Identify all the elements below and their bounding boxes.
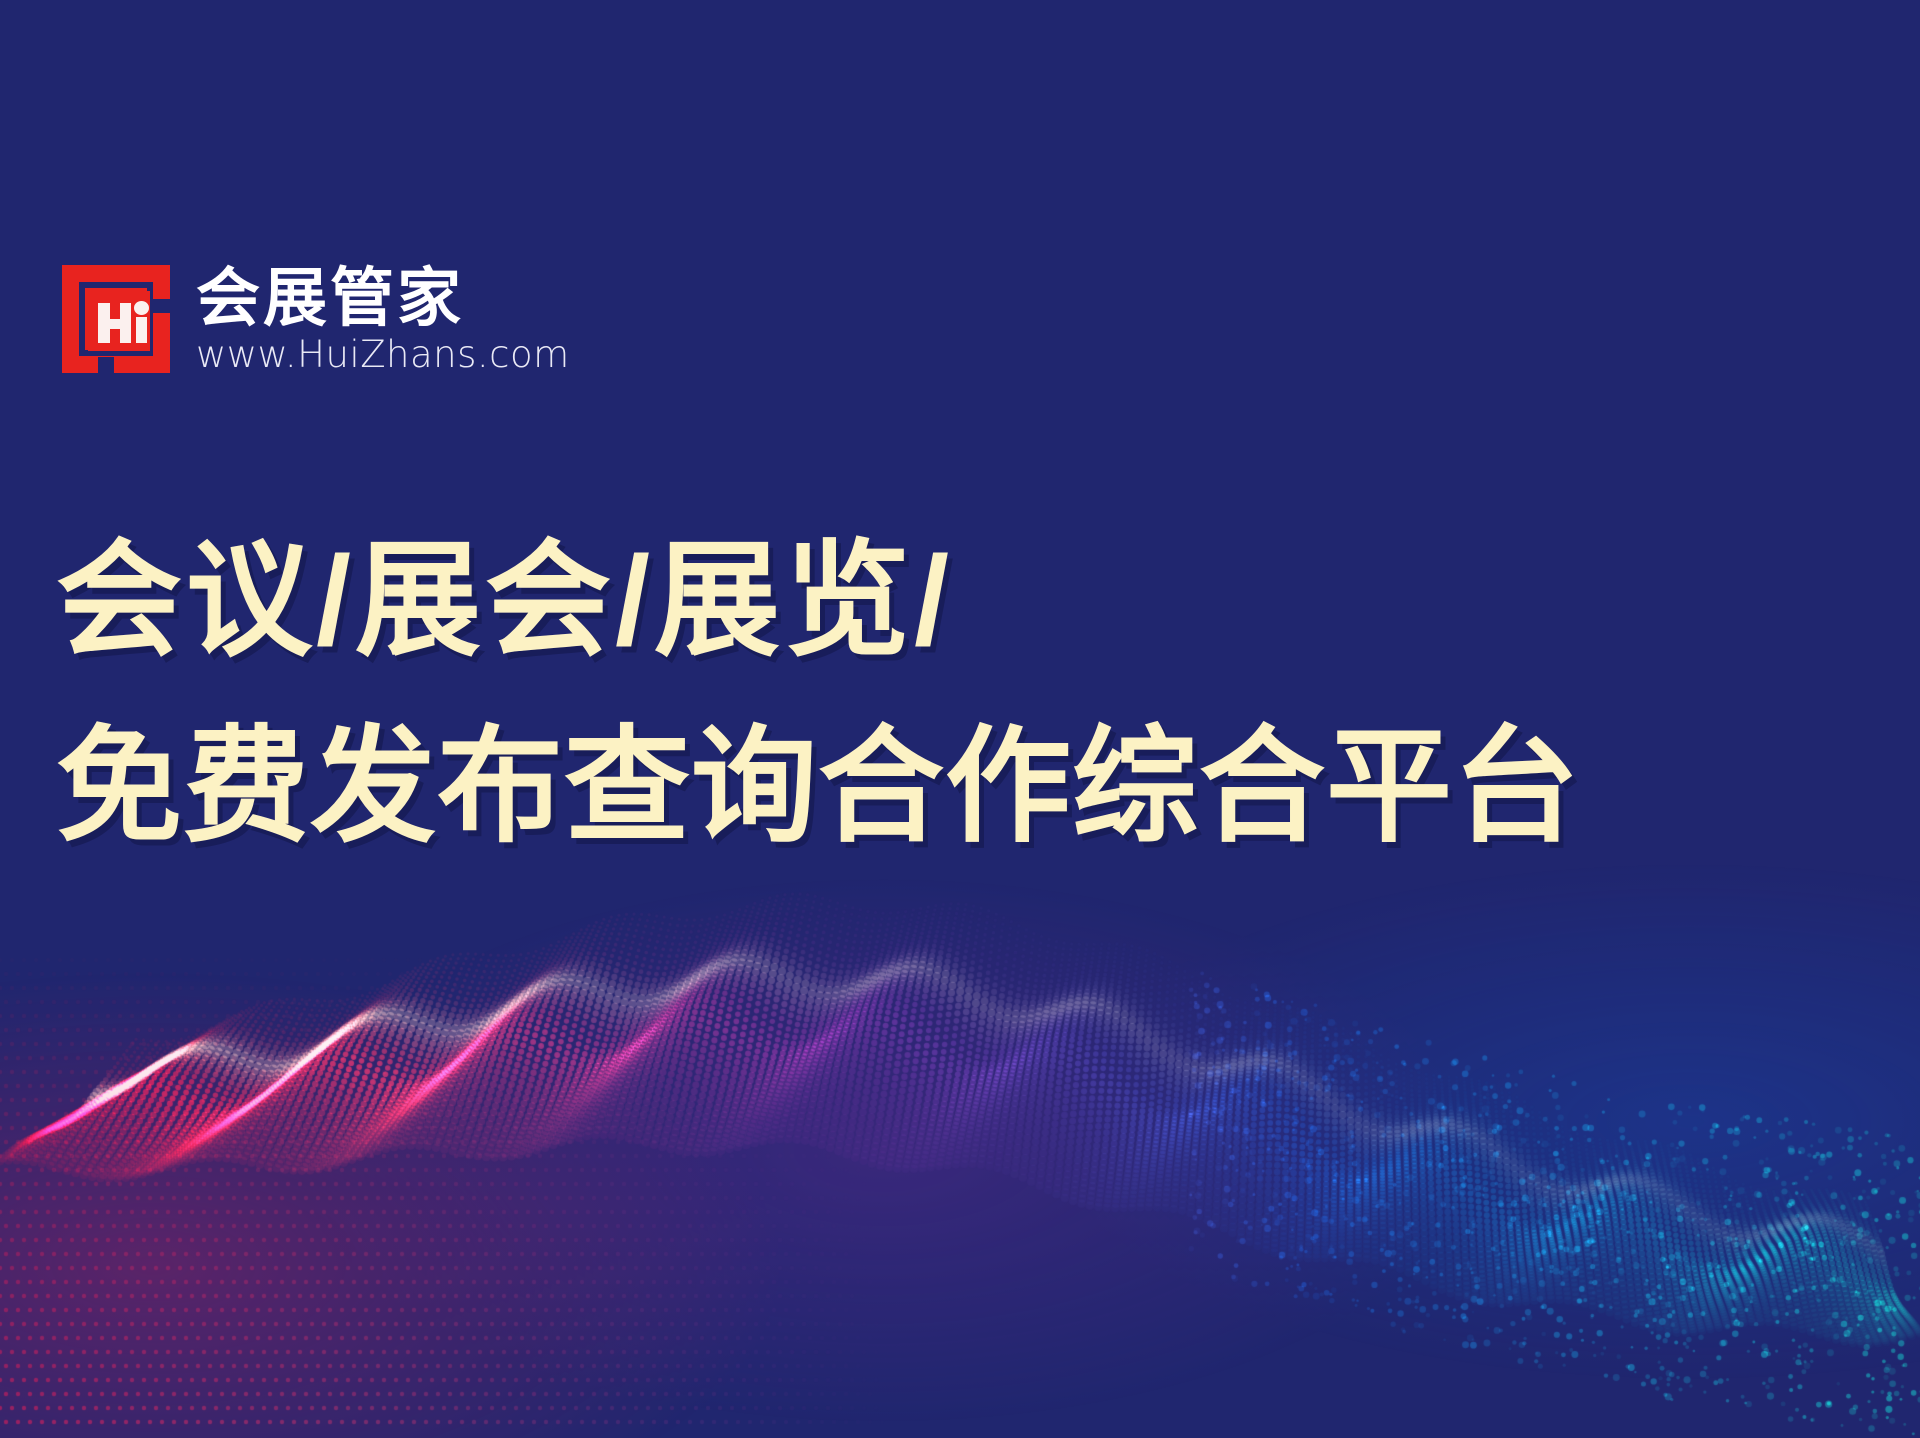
logo-letter-i-dot (134, 301, 149, 315)
brand-logo-lockup[interactable]: 会展管家 www.HuiZhans.com (62, 265, 570, 375)
brand-text-group: 会展管家 www.HuiZhans.com (196, 265, 570, 375)
poster-canvas: 会展管家 www.HuiZhans.com 会议/展会/展览/ 免费发布查询合作… (0, 0, 1920, 1438)
headline-line-1: 会议/展会/展览/ (56, 508, 1876, 694)
hi-square-logo-icon (62, 265, 170, 373)
headline-line-2: 免费发布查询合作综合平台 (56, 694, 1876, 880)
brand-name: 会展管家 (196, 265, 570, 331)
logo-frame-gap-right (150, 299, 170, 313)
logo-frame-gap-bottom (98, 357, 114, 373)
logo-letter-i-stem (136, 317, 147, 343)
headline-block: 会议/展会/展览/ 免费发布查询合作综合平台 (56, 508, 1876, 880)
brand-url: www.HuiZhans.com (196, 335, 570, 375)
logo-letter-h-right-stem (120, 303, 131, 343)
